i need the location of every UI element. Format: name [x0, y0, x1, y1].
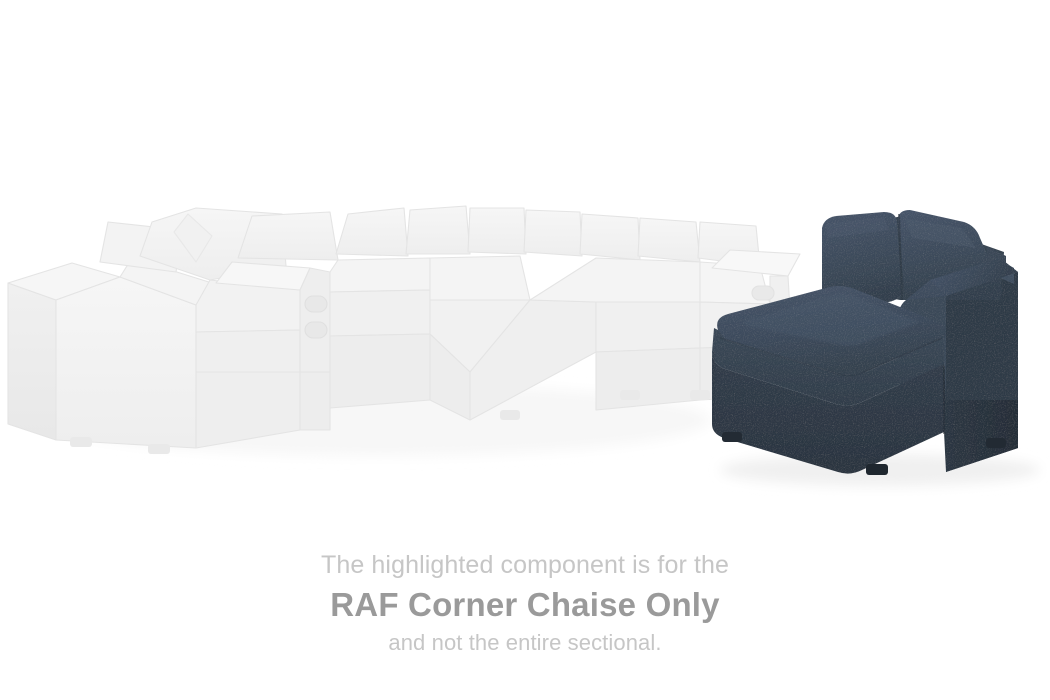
caption-line-disclaimer: and not the entire sectional. [0, 627, 1050, 659]
ghost-foot [690, 390, 710, 400]
caption-line-intro: The highlighted component is for the [0, 548, 1050, 582]
ghosted-sectional-group [8, 206, 800, 456]
ghost-back-cushion [524, 210, 582, 256]
ghost-back-cushion [580, 214, 640, 260]
ghost-back-cushion [638, 218, 700, 262]
ghost-laf-arm-front [56, 277, 196, 448]
ghost-foot [620, 390, 640, 400]
ghost-wedge-seat-top [430, 256, 530, 300]
ghost-plinth [330, 334, 430, 408]
ghost-cupholder-lower [305, 322, 327, 338]
ghost-console-body [300, 268, 330, 372]
ghost-seat-front [596, 302, 700, 352]
ghost-back-cushion [336, 208, 408, 256]
ghost-back-cushion [238, 212, 338, 260]
ghost-seat-top [330, 258, 430, 292]
ghost-console-plinth [300, 372, 330, 430]
caption-block: The highlighted component is for the RAF… [0, 548, 1050, 659]
ghost-back-cushion [468, 208, 526, 254]
ghost-seat-top [530, 258, 700, 302]
ghost-back-cushion [406, 206, 470, 254]
ghost-seat-front [330, 290, 430, 336]
chaise-foot-front-left [722, 432, 742, 442]
chaise-foot-front-center [866, 464, 888, 475]
ghost-backrest-run [336, 206, 760, 266]
ghost-plinth [596, 348, 700, 410]
ghost-cupholder-upper [305, 296, 327, 312]
ghost-laf-seat-front [196, 330, 300, 372]
sectional-sofa-illustration [0, 0, 1050, 520]
ghost-cupholder-right [752, 286, 774, 300]
ghost-foot [500, 410, 520, 420]
product-image-canvas: The highlighted component is for the RAF… [0, 0, 1050, 700]
ghost-foot [148, 444, 170, 454]
caption-line-component-name: RAF Corner Chaise Only [0, 582, 1050, 627]
chaise-foot-right [986, 438, 1006, 448]
ghost-laf-arm-outer [8, 283, 56, 440]
ghost-foot [70, 437, 92, 447]
